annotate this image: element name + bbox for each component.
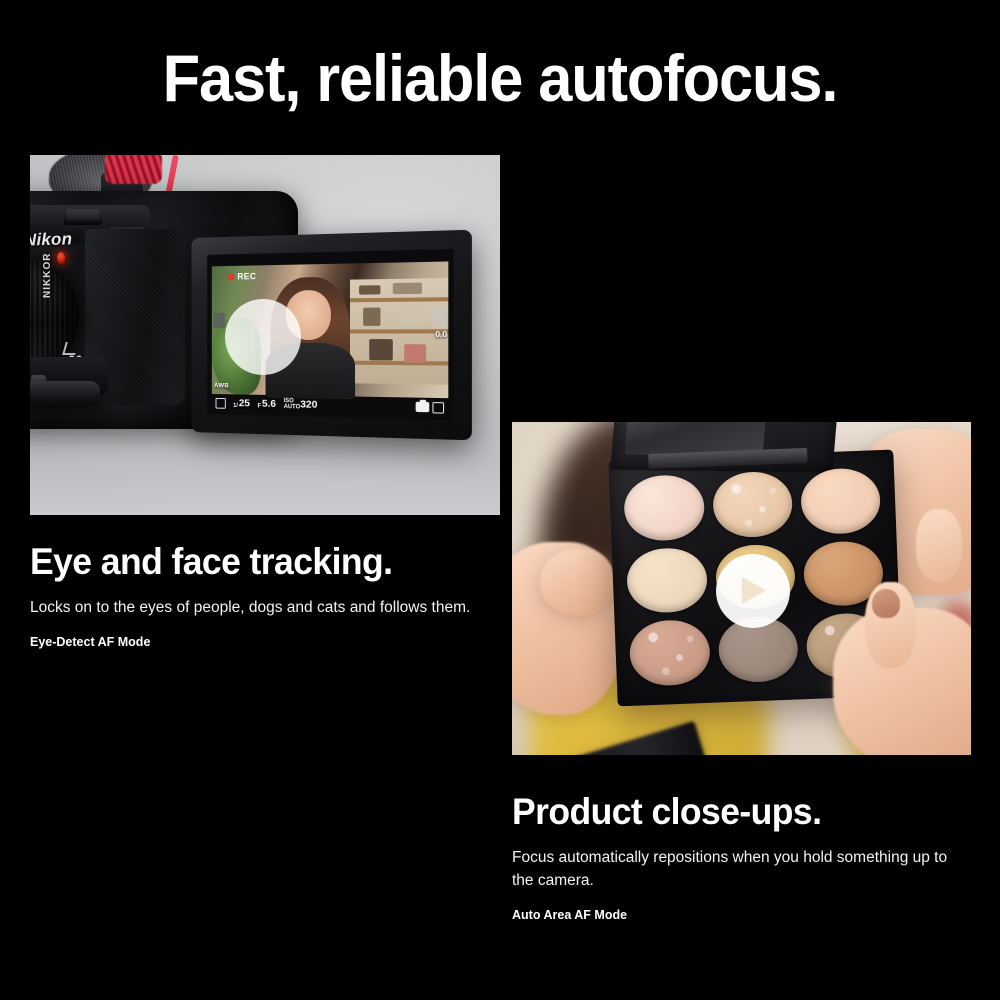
- aperture-value: 5.6: [262, 398, 276, 410]
- feature-title: Product close-ups.: [512, 790, 954, 834]
- feature-body: Focus automatically repositions when you…: [512, 846, 972, 892]
- lens-brand-label-nikkor: NIKKOR: [42, 252, 53, 297]
- card-slot-icon: [433, 402, 445, 414]
- coiled-cable: [105, 155, 161, 184]
- fingernail: [872, 589, 900, 619]
- white-balance-label: AWB: [214, 383, 229, 390]
- shutter-speed-group: 1/ 25: [233, 397, 250, 409]
- feature-caption: Eye-Detect AF Mode: [30, 633, 500, 651]
- shelf-item: [400, 306, 426, 326]
- finger: [916, 509, 962, 582]
- iso-label: ISO AUTO: [284, 398, 300, 410]
- play-triangle-icon: [739, 575, 768, 606]
- eyeshadow-pan: [712, 471, 794, 539]
- shelf-item: [363, 308, 380, 326]
- shelf-item: [393, 282, 423, 294]
- makeup-palette-scene: [512, 422, 971, 755]
- eyeshadow-pan: [629, 619, 711, 687]
- rec-indicator: REC: [228, 272, 257, 282]
- shutter-speed-value: 25: [239, 398, 250, 410]
- left-thumb: [540, 549, 613, 616]
- shelf-item: [404, 344, 426, 363]
- brand-label-nikon: Nikon: [30, 230, 73, 251]
- aperture-prefix: F: [258, 404, 262, 410]
- rec-dot-icon: [228, 274, 235, 281]
- feature-caption: Auto Area AF Mode: [512, 906, 972, 924]
- feature-body: Locks on to the eyes of people, dogs and…: [30, 596, 500, 619]
- eyeshadow-pan: [800, 468, 882, 536]
- feature-text-eye-face-tracking: Eye and face tracking. Locks on to the e…: [30, 540, 500, 651]
- feature-page: Fast, reliable autofocus. Nikon NIKKOR: [0, 0, 1000, 1000]
- tripod-quick-release-plate: [30, 381, 100, 405]
- play-icon[interactable]: [225, 299, 301, 375]
- lcd-settings-bar: 1/ 25 F 5.6 ISO AUTO 320: [212, 393, 449, 419]
- play-icon[interactable]: [716, 554, 790, 628]
- shutter-prefix: 1/: [233, 403, 238, 409]
- video-thumbnail-eye-face-tracking[interactable]: Nikon NIKKOR 30: [30, 155, 500, 515]
- feature-title: Eye and face tracking.: [30, 540, 481, 584]
- recording-led-icon: [57, 252, 65, 264]
- eyeshadow-pan: [626, 547, 708, 615]
- shelf-item: [359, 285, 380, 295]
- lcd-left-icon: [214, 313, 225, 329]
- page-title: Fast, reliable autofocus.: [35, 42, 965, 114]
- lcd-right-icon: [432, 308, 446, 329]
- iso-group: ISO AUTO 320: [284, 398, 318, 411]
- video-thumbnail-product-close-ups[interactable]: [512, 422, 971, 755]
- iso-value: 320: [300, 399, 317, 411]
- camera-scene: Nikon NIKKOR 30: [30, 155, 500, 515]
- aperture-group: F 5.6: [258, 398, 276, 410]
- live-view-shelf: [350, 278, 449, 385]
- focus-mode-icon: [216, 398, 226, 409]
- exposure-compensation-value: 0.0: [435, 330, 447, 339]
- shelf-item: [369, 340, 392, 361]
- hotshoe-mount: [64, 209, 102, 226]
- rec-label: REC: [237, 272, 256, 282]
- play-triangle-icon: [248, 321, 278, 353]
- eyeshadow-pan: [623, 474, 705, 542]
- feature-text-product-close-ups: Product close-ups. Focus automatically r…: [512, 790, 972, 924]
- still-capture-icon: [416, 402, 430, 413]
